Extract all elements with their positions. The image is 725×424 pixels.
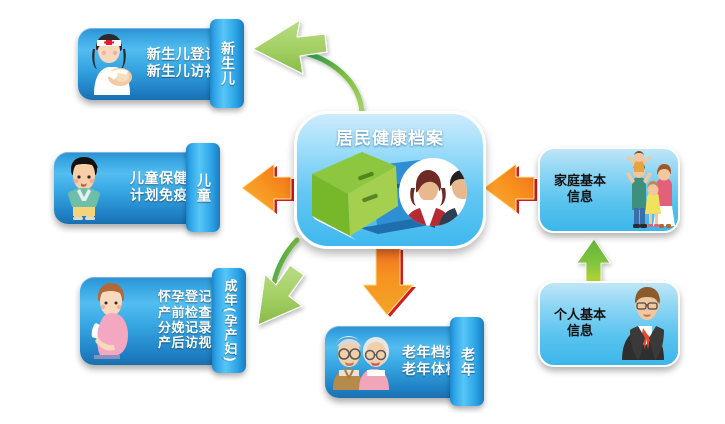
elderly-couple-icon <box>329 332 391 392</box>
box-person-info-line-2: 信息 <box>546 324 614 340</box>
node-adult-tab-label: 成年(孕产妇) <box>223 279 236 363</box>
node-elderly-tab-label: 老年 <box>460 347 474 377</box>
node-child-tab-label: 儿童 <box>196 173 210 203</box>
node-newborn-tab-label: 新生儿 <box>220 41 234 86</box>
arrow-to-adult <box>258 240 304 325</box>
node-newborn-tab[interactable]: 新生儿 <box>210 19 244 108</box>
node-child-tab[interactable]: 儿童 <box>186 143 220 232</box>
node-elderly-tab[interactable]: 老年 <box>450 317 484 406</box>
pregnant-woman-icon <box>84 281 136 361</box>
arrow-to-newborn <box>253 20 362 113</box>
arrow-person-to-family <box>577 239 610 286</box>
businessman-portrait-icon <box>614 286 680 362</box>
box-person-info-label: 个人基本 信息 <box>540 308 614 339</box>
box-person-info[interactable]: 个人基本 信息 <box>538 281 680 367</box>
diagram-canvas: 居民健康档案 <box>0 0 725 424</box>
nurse-holding-baby-icon <box>82 31 134 97</box>
child-icon <box>58 155 110 221</box>
arrow-to-child <box>242 164 294 214</box>
box-family-info[interactable]: 家庭基本 信息 <box>538 147 680 233</box>
node-adult-tab[interactable]: 成年(孕产妇) <box>212 268 246 373</box>
box-family-info-line-2: 信息 <box>546 190 614 206</box>
box-family-info-label: 家庭基本 信息 <box>540 174 614 205</box>
center-node-health-record[interactable]: 居民健康档案 <box>294 111 486 249</box>
center-node-artwork <box>300 144 480 244</box>
box-person-info-line-1: 个人基本 <box>546 308 614 324</box>
family-of-four-icon <box>614 150 684 230</box>
arrow-to-elderly <box>363 248 416 317</box>
arrow-family-to-center <box>484 164 537 214</box>
box-family-info-line-1: 家庭基本 <box>546 174 614 190</box>
